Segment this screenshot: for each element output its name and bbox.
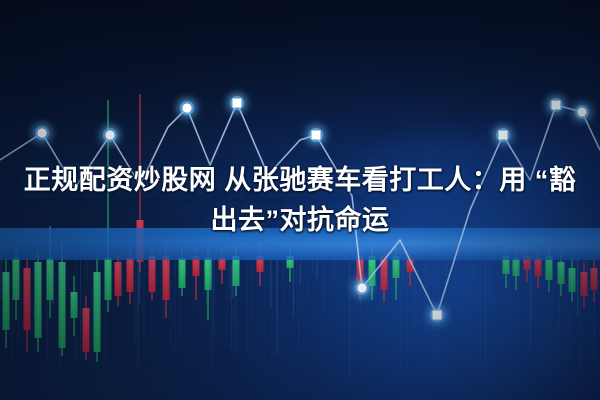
banner-headline: 正规配资炒股网 从张驰赛车看打工人：用 “豁出去”对抗命运 — [0, 160, 600, 240]
stock-news-banner: 正规配资炒股网 从张驰赛车看打工人：用 “豁出去”对抗命运 — [0, 0, 600, 400]
